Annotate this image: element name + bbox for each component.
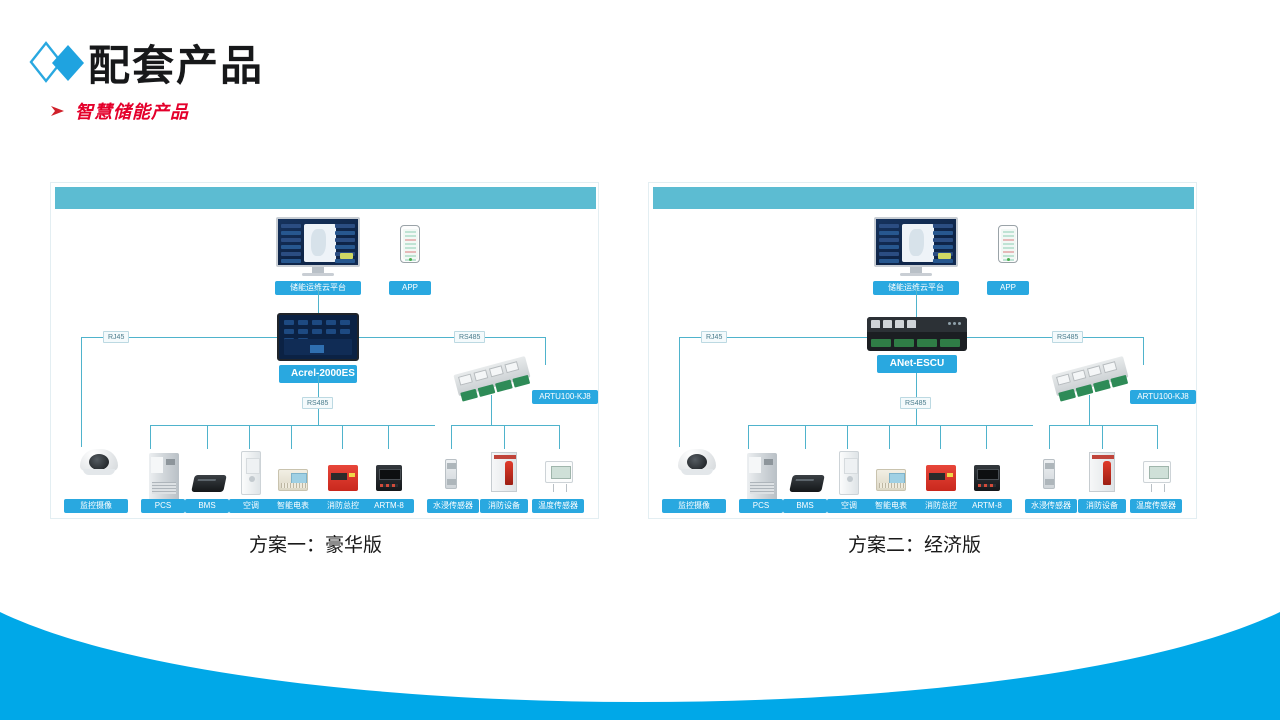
bus-rail (748, 425, 1033, 426)
device-label-meter: 智能电表 (265, 499, 321, 513)
smartphone-icon (400, 225, 420, 263)
pcs-cabinet-icon (149, 453, 179, 499)
protocol-label-rs485-bus: RS485 (302, 397, 333, 409)
controller-label: ANet-ESCU (877, 355, 957, 373)
device-label-bms: BMS (185, 499, 229, 513)
link-bus-down (318, 409, 319, 425)
device-label-water-sensor: 水浸传感器 (1025, 499, 1077, 513)
smartphone-icon (998, 225, 1018, 263)
device-label-artm8: ARTM-8 (364, 499, 414, 513)
link-cloud-controller (318, 287, 319, 313)
diagram-body: 储能运维云平台 APP ANet-ESCU RJ45 RS485 (649, 209, 1198, 520)
link-controller-right (359, 337, 545, 338)
subtitle-text: 智慧储能产品 (75, 98, 189, 124)
bus-drop-5 (940, 425, 941, 449)
caption-economy: 方案二：经济版 (848, 530, 981, 557)
device-label-pcs: PCS (141, 499, 185, 513)
bus-drop-2 (805, 425, 806, 449)
bus-drop-6 (986, 425, 987, 449)
device-label-pcs: PCS (739, 499, 783, 513)
sub-bus-rail (451, 425, 559, 426)
temperature-sensor-icon (1143, 461, 1171, 483)
link-left-drop (81, 337, 82, 447)
subtitle-row: 智慧储能产品 (50, 98, 189, 124)
device-label-meter: 智能电表 (863, 499, 919, 513)
slide-header: 配套产品 智慧储能产品 (0, 0, 1280, 150)
smart-meter-icon (278, 469, 308, 491)
device-label-fire-cabinet: 消防设备 (480, 499, 528, 513)
link-right-drop (545, 337, 546, 365)
smart-meter-icon (876, 469, 906, 491)
app-label: APP (987, 281, 1029, 295)
artm8-meter-icon (376, 465, 402, 491)
device-label-fire-control: 消防总控 (315, 499, 371, 513)
app-label: APP (389, 281, 431, 295)
bus-drop-6 (388, 425, 389, 449)
protocol-label-rj45: RJ45 (701, 331, 727, 343)
footer-wave-decoration (0, 590, 1280, 720)
protocol-label-rs485-bus: RS485 (900, 397, 931, 409)
din-rail-module-icon (453, 356, 532, 404)
device-label-fire-cabinet: 消防设备 (1078, 499, 1126, 513)
panel-header-bar (653, 187, 1194, 209)
diagram-body: 储能运维云平台 APP Acrel-2000ES RJ45 RS485 (51, 209, 600, 520)
bms-box-icon (191, 475, 227, 492)
artm8-meter-icon (974, 465, 1000, 491)
bus-rail (150, 425, 435, 426)
din-rail-module-icon (1051, 356, 1130, 404)
link-controller-bus (318, 375, 319, 397)
bus-drop-3 (847, 425, 848, 449)
link-cloud-controller (916, 287, 917, 317)
temperature-sensor-icon (545, 461, 573, 483)
sub-bus-rail (1049, 425, 1157, 426)
arrow-bullet-icon (50, 104, 66, 118)
fire-control-panel-icon (328, 465, 358, 491)
diagram-panel-economy: 储能运维云平台 APP ANet-ESCU RJ45 RS485 (648, 182, 1197, 519)
sub-bus-stem (1089, 395, 1090, 425)
sub-bus-drop-3 (559, 425, 560, 449)
protocol-label-rs485-right: RS485 (454, 331, 485, 343)
monitor-icon (276, 217, 360, 277)
panel-header-bar (55, 187, 596, 209)
gateway-icon (867, 317, 967, 351)
bus-drop-3 (249, 425, 250, 449)
device-label-temp-sensor: 温度传感器 (1130, 499, 1182, 513)
camera-label: 监控摄像 (64, 499, 128, 513)
bus-drop-1 (748, 425, 749, 449)
device-label-temp-sensor: 温度传感器 (532, 499, 584, 513)
device-label-fire-control: 消防总控 (913, 499, 969, 513)
dome-camera-icon (80, 449, 118, 477)
device-label-artm8: ARTM-8 (962, 499, 1012, 513)
protocol-label-rs485-right: RS485 (1052, 331, 1083, 343)
water-sensor-icon (1043, 459, 1055, 489)
bus-drop-5 (342, 425, 343, 449)
bus-drop-4 (889, 425, 890, 449)
caption-deluxe: 方案一：豪华版 (249, 530, 382, 557)
fire-cabinet-icon (491, 452, 517, 492)
bus-drop-1 (150, 425, 151, 449)
bus-drop-4 (291, 425, 292, 449)
sub-bus-stem (491, 395, 492, 425)
dome-camera-icon (678, 449, 716, 477)
air-conditioner-icon (839, 451, 859, 495)
link-bus-down (916, 409, 917, 425)
sub-bus-drop-1 (451, 425, 452, 449)
sub-bus-drop-3 (1157, 425, 1158, 449)
expansion-label: ARTU100-KJ8 (532, 390, 598, 404)
link-right-drop (1143, 337, 1144, 365)
device-label-water-sensor: 水浸传感器 (427, 499, 479, 513)
fire-control-panel-icon (926, 465, 956, 491)
expansion-label: ARTU100-KJ8 (1130, 390, 1196, 404)
link-left-drop (679, 337, 680, 447)
sub-bus-drop-1 (1049, 425, 1050, 449)
air-conditioner-icon (241, 451, 261, 495)
device-label-bms: BMS (783, 499, 827, 513)
protocol-label-rj45: RJ45 (103, 331, 129, 343)
hmi-panel-icon (277, 313, 359, 361)
sub-bus-drop-2 (1102, 425, 1103, 449)
sub-bus-drop-2 (504, 425, 505, 449)
fire-cabinet-icon (1089, 452, 1115, 492)
page-title: 配套产品 (88, 32, 264, 93)
diagram-panel-deluxe: 储能运维云平台 APP Acrel-2000ES RJ45 RS485 (50, 182, 599, 519)
bms-box-icon (789, 475, 825, 492)
water-sensor-icon (445, 459, 457, 489)
pcs-cabinet-icon (747, 453, 777, 499)
bus-drop-2 (207, 425, 208, 449)
diamond-logo-icon (28, 40, 86, 86)
camera-label: 监控摄像 (662, 499, 726, 513)
link-controller-bus (916, 373, 917, 397)
monitor-icon (874, 217, 958, 277)
